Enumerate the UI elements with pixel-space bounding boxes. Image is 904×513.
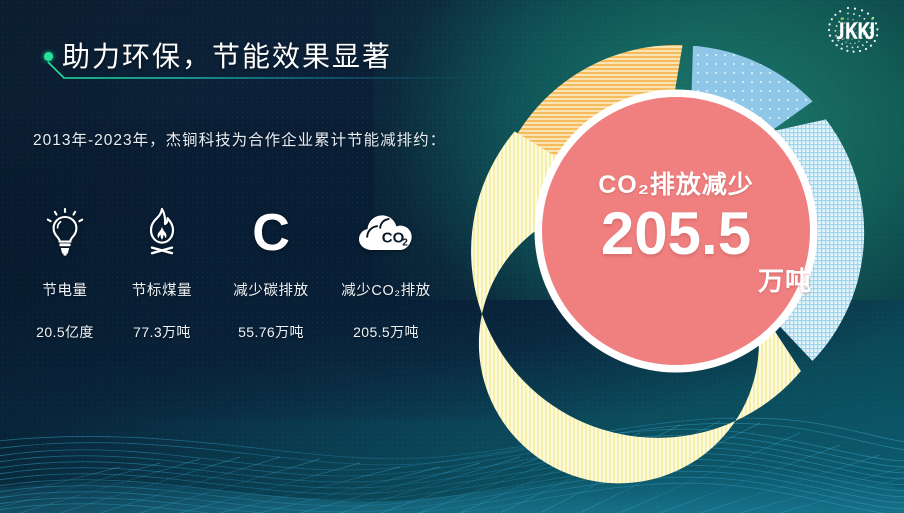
slide-root: 助力环保，节能效果显著 2013年-2023年，杰锏科技为合作企业累计节能减排约… <box>0 0 904 513</box>
slide-header: 助力环保，节能效果显著 <box>42 42 502 92</box>
stat-item-coal[interactable]: 节标煤量 77.3万吨 <box>108 203 216 342</box>
stat-item-carbon[interactable]: C 减少碳排放 55.76万吨 <box>216 203 326 342</box>
stat-label: 节电量 <box>42 279 87 300</box>
stat-label: 减少CO₂排放 <box>341 279 431 300</box>
stat-value: 77.3万吨 <box>133 322 191 342</box>
stat-value: 20.5亿度 <box>36 322 94 342</box>
stat-label: 减少碳排放 <box>233 279 309 300</box>
stat-value: 205.5万吨 <box>353 322 419 342</box>
donut-center-disc <box>542 97 810 365</box>
donut-chart: CO₂排放减少 205.5 万吨 <box>489 44 863 418</box>
flame-icon <box>139 203 185 261</box>
svg-text:C: C <box>252 206 290 258</box>
stats-row: 节电量 20.5亿度 节标煤量 77.3万吨 C <box>22 203 492 353</box>
stat-value: 55.76万吨 <box>238 322 304 342</box>
carbon-c-icon: C <box>247 203 295 261</box>
stat-item-electricity[interactable]: 节电量 20.5亿度 <box>22 203 108 342</box>
title-accent-dot <box>44 52 53 61</box>
stat-item-co2[interactable]: CO 2 减少CO₂排放 205.5万吨 <box>326 203 446 342</box>
co2-cloud-icon: CO 2 <box>355 203 417 261</box>
lightbulb-icon <box>44 203 86 261</box>
page-title: 助力环保，节能效果显著 <box>62 35 392 75</box>
lead-paragraph: 2013年-2023年，杰锏科技为合作企业累计节能减排约： <box>33 126 483 156</box>
stat-label: 节标煤量 <box>132 279 192 300</box>
